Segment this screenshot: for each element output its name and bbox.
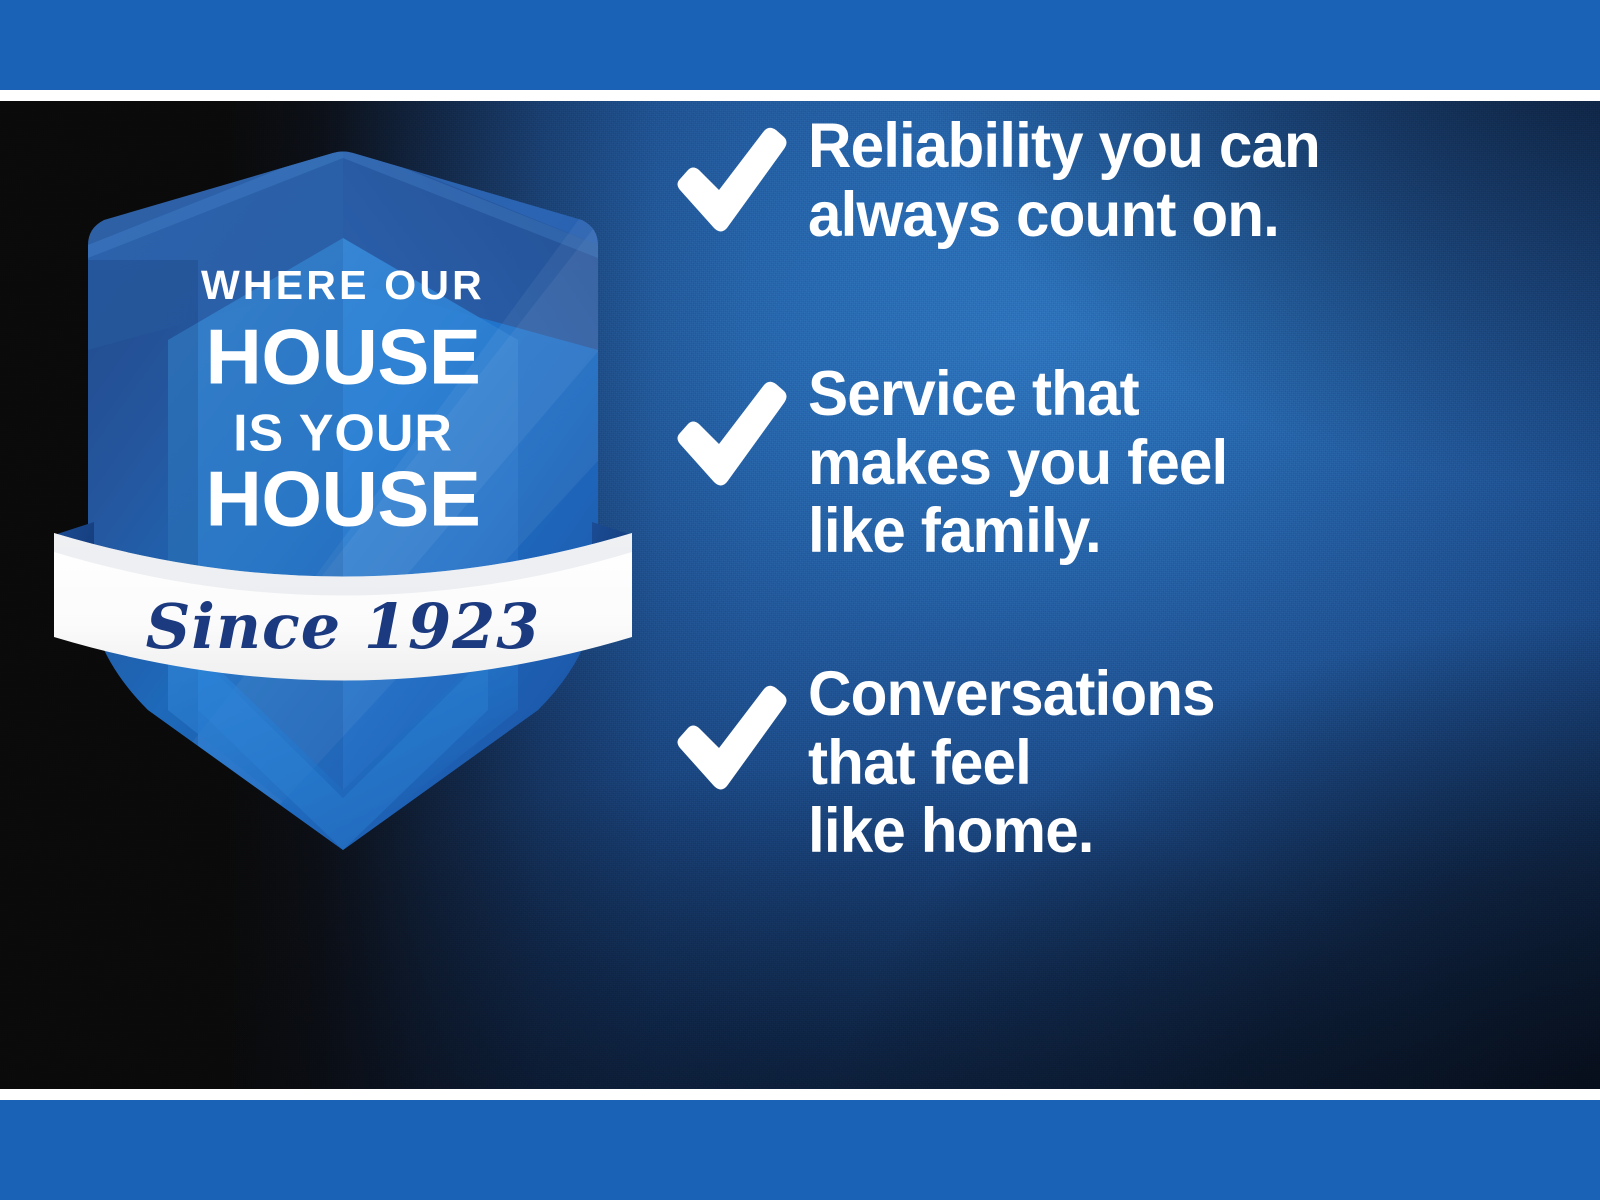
list-item-label: Service that makes you feel like family. <box>808 360 1227 566</box>
top-white-divider <box>0 90 1600 101</box>
shield-line-4: HOUSE <box>206 455 481 543</box>
list-item-label: Conversations that feel like home. <box>808 660 1215 866</box>
shield-line-1: WHERE OUR <box>201 262 485 308</box>
since-ribbon-text: Since 1923 <box>146 590 541 663</box>
list-item: Reliability you can always count on. <box>672 112 1344 249</box>
shield-line-2: HOUSE <box>206 313 481 401</box>
promo-graphic: WHERE OUR HOUSE IS YOUR HOUSE Since 1923 <box>0 0 1600 1200</box>
bottom-brand-band <box>0 1100 1600 1200</box>
checkmark-icon <box>672 378 790 494</box>
checkmark-icon <box>672 124 790 240</box>
list-item-label: Reliability you can always count on. <box>808 112 1320 249</box>
checkmark-icon <box>672 682 790 798</box>
bottom-white-divider <box>0 1089 1600 1100</box>
list-item: Service that makes you feel like family. <box>672 360 1247 566</box>
shield-badge: WHERE OUR HOUSE IS YOUR HOUSE Since 1923 <box>48 150 608 850</box>
top-brand-band <box>0 0 1600 90</box>
list-item: Conversations that feel like home. <box>672 660 1234 866</box>
benefits-list: Reliability you can always count on. Ser… <box>672 0 1572 988</box>
